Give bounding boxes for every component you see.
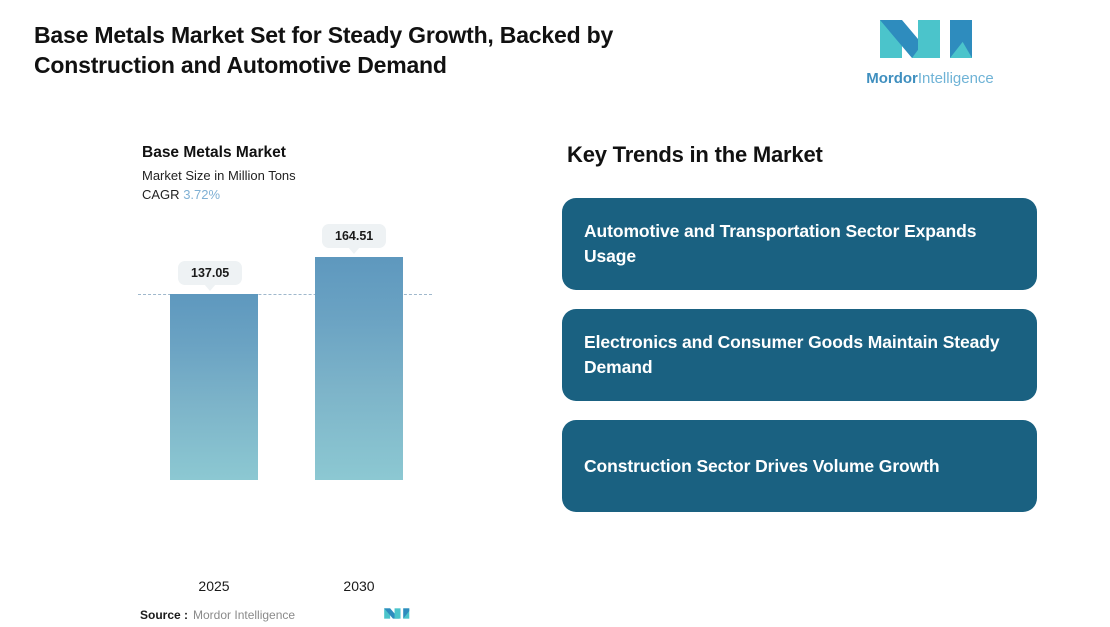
source-label: Source :: [140, 608, 188, 622]
chart-plot-area: 137.05 164.51 2025 2030 Source :Mordor I…: [110, 220, 550, 480]
chart-source: Source :Mordor Intelligence: [140, 608, 295, 622]
key-trends-panel: Key Trends in the Market Automotive and …: [562, 130, 1062, 540]
chart-cagr: CAGR 3.72%: [142, 187, 220, 202]
trend-card[interactable]: Automotive and Transportation Sector Exp…: [562, 198, 1037, 290]
trend-card-text: Automotive and Transportation Sector Exp…: [562, 219, 1037, 269]
chart-title: Base Metals Market: [142, 144, 286, 162]
bar-value-text-2030: 164.51: [335, 229, 373, 243]
trend-card[interactable]: Construction Sector Drives Volume Growth: [562, 420, 1037, 512]
trend-card[interactable]: Electronics and Consumer Goods Maintain …: [562, 309, 1037, 401]
cagr-label: CAGR: [142, 187, 180, 202]
source-value: Mordor Intelligence: [193, 608, 295, 622]
x-axis-tick-2030: 2030: [299, 578, 419, 594]
mordor-intelligence-logo-icon: [872, 10, 982, 68]
x-axis-tick-2025: 2025: [154, 578, 274, 594]
cagr-value: 3.72%: [183, 187, 220, 202]
page-title: Base Metals Market Set for Steady Growth…: [34, 20, 694, 80]
mordor-intelligence-mark-icon: [382, 605, 412, 622]
tooltip-pointer-icon: [204, 284, 216, 291]
chart-subtitle: Market Size in Million Tons: [142, 168, 296, 183]
trend-card-text: Construction Sector Drives Volume Growth: [562, 454, 961, 479]
key-trends-heading: Key Trends in the Market: [567, 142, 823, 168]
bar-value-label-2025: 137.05: [178, 261, 242, 285]
brand-wordmark: MordorIntelligence: [860, 70, 1000, 87]
trend-card-text: Electronics and Consumer Goods Maintain …: [562, 330, 1037, 380]
bar-value-text-2025: 137.05: [191, 266, 229, 280]
bar-2030[interactable]: [315, 257, 403, 480]
bar-value-label-2030: 164.51: [322, 224, 386, 248]
tooltip-pointer-icon: [348, 247, 360, 254]
chart-panel: Base Metals Market Market Size in Millio…: [110, 125, 550, 550]
page-header: Base Metals Market Set for Steady Growth…: [0, 0, 1110, 110]
brand-logo: MordorIntelligence: [860, 10, 1000, 92]
brand-word-mordor: Mordor: [866, 70, 918, 87]
bar-2025[interactable]: [170, 294, 258, 480]
brand-word-intelligence: Intelligence: [918, 70, 994, 87]
